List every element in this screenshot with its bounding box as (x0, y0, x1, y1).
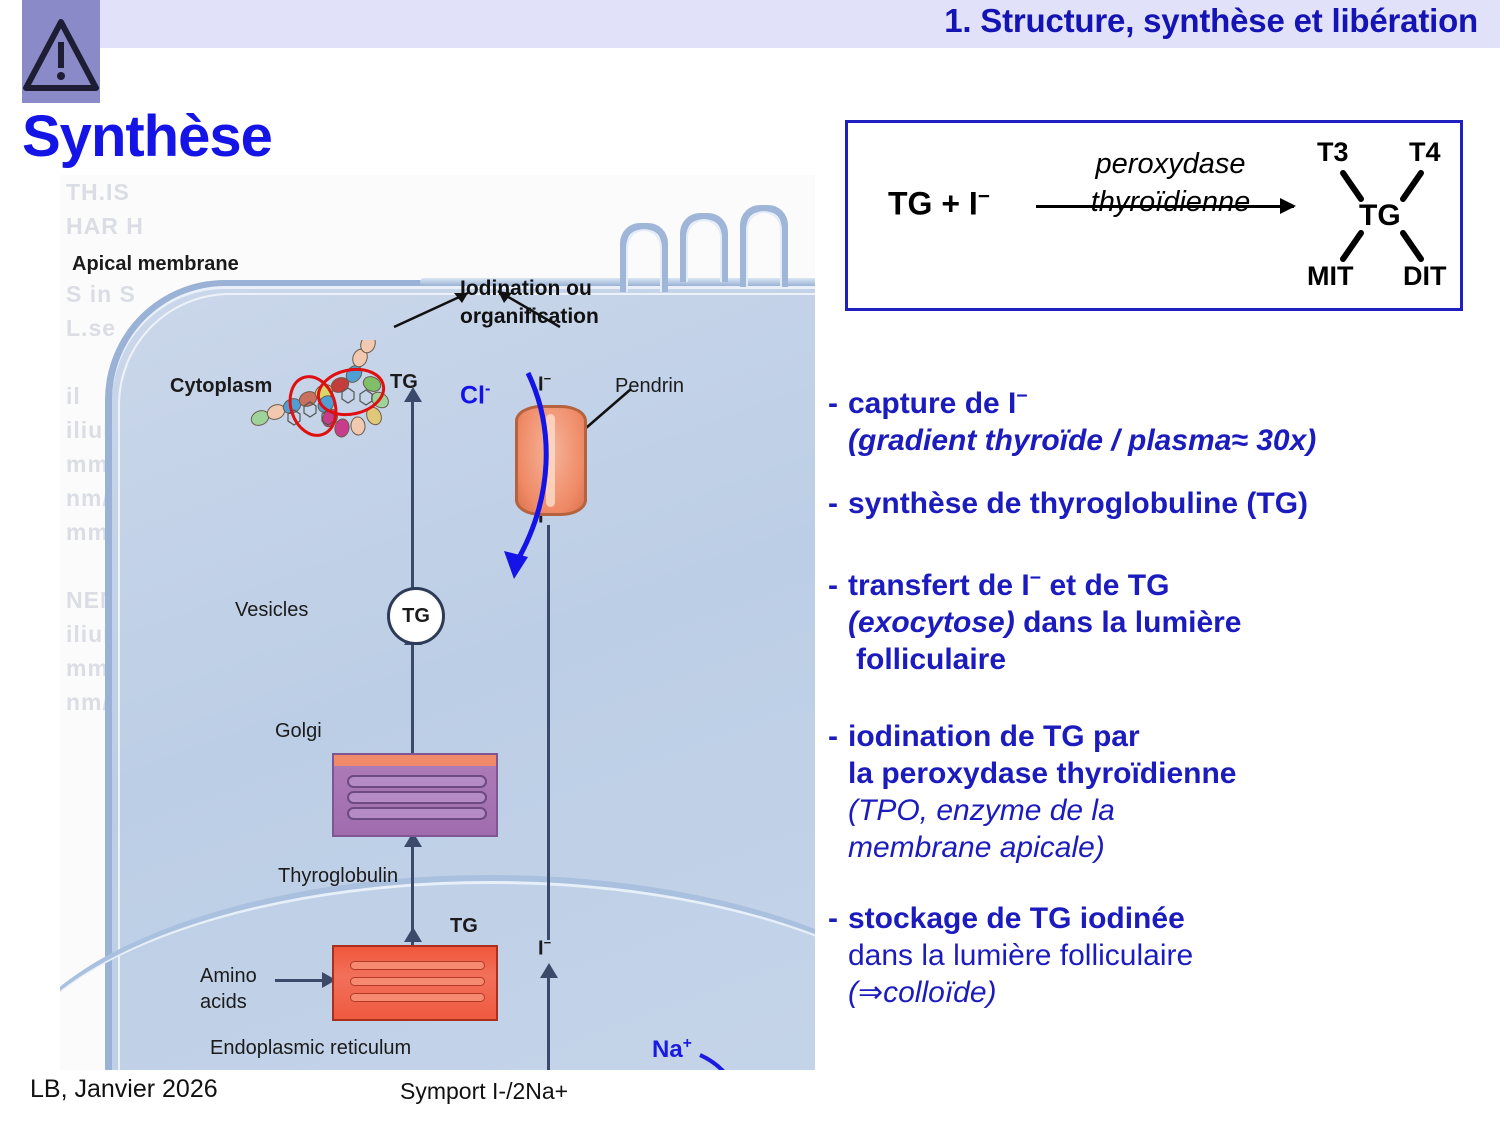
label-apical-membrane: Apical membrane (72, 253, 239, 276)
microvillus-icon (680, 213, 728, 282)
equation-products: T3 T4 TG MIT DIT (1303, 133, 1453, 298)
label-amino-acids-2: acids (200, 991, 247, 1014)
label-iodination-line2: organification (460, 303, 599, 331)
bullet-iodination-line1: iodination de TG par (848, 720, 1140, 753)
enzyme-line2: thyroïdienne (1033, 183, 1308, 221)
bullet-transfert: -transfert de I− et de TG (exocytose) da… (828, 560, 1500, 678)
bullet-synthese-line1: synthèse de thyroglobuline (TG) (848, 487, 1308, 520)
bullet-capture: -capture de I− (gradient thyroïde / plas… (828, 378, 1500, 459)
label-golgi: Golgi (275, 720, 322, 743)
label-thyroglobulin: Thyroglobulin (278, 865, 398, 888)
product-dit: DIT (1403, 261, 1447, 292)
tg-pathway-arrowhead-4 (404, 927, 422, 942)
bullet-dash: - (828, 900, 848, 937)
footer-date: LB, Janvier 2026 (30, 1075, 218, 1104)
bullet-transfert-line3: folliculaire (828, 641, 1500, 678)
endoplasmic-reticulum-icon (332, 945, 498, 1021)
bullet-dash: - (828, 567, 848, 604)
iodide-pathway-line-3 (547, 975, 550, 1070)
bullet-stockage: -stockage de TG iodinée dans la lumière … (828, 900, 1500, 1011)
iodide-pathway-line-2 (547, 525, 550, 940)
bullet-stockage-line2: dans la lumière folliculaire (828, 937, 1500, 974)
label-chloride: Cl- (460, 380, 490, 410)
reaction-equation-box: TG + I− peroxydase thyroïdienne T3 T4 TG… (845, 120, 1463, 311)
label-cytoplasm: Cytoplasm (170, 375, 272, 398)
label-endoplasmic-reticulum: Endoplasmic reticulum (210, 1037, 411, 1060)
product-t4: T4 (1409, 137, 1441, 168)
tg-pathway-line (411, 399, 414, 589)
label-tg-er: TG (450, 915, 478, 938)
bullet-iodination-line4: membrane apicale) (828, 829, 1500, 866)
page-title: 1. Structure, synthèse et libération (944, 2, 1478, 40)
tg-pathway-line-2 (411, 641, 414, 753)
bullet-stockage-line1: stockage de TG iodinée (848, 902, 1185, 935)
product-tg-center: TG (1359, 199, 1401, 233)
thyrocyte-diagram: TH.IS HAR H S in S L.se il ilium mmin nm… (60, 175, 815, 1070)
bullet-iodination-line3: (TPO, enzyme de la (828, 792, 1500, 829)
symport-caption: Symport I-/2Na+ (400, 1078, 568, 1105)
tg-pathway-arrowhead (404, 387, 422, 402)
bullet-iodination: -iodination de TG par la peroxydase thyr… (828, 718, 1500, 866)
label-amino-acids-1: Amino (200, 965, 257, 988)
product-mit: MIT (1307, 261, 1354, 292)
bullet-transfert-line1: transfert de I− et de TG (848, 569, 1169, 602)
slide-title: Synthèse (22, 108, 272, 166)
bullet-list: -capture de I− (gradient thyroïde / plas… (828, 378, 1500, 1037)
tg-vesicle-icon: TG (387, 587, 445, 645)
label-iodide-mid: I− (538, 935, 551, 961)
iodide-arrowhead-2 (540, 963, 558, 978)
sodium-efflux-arrow (690, 1049, 790, 1070)
equation-left-side: TG + I− (888, 185, 990, 223)
bullet-stockage-line3: (⇒colloïde) (828, 974, 1500, 1011)
bullet-dash: - (828, 485, 848, 522)
bullet-synthese: -synthèse de thyroglobuline (TG) (828, 485, 1500, 522)
label-iodination: Iodination ou organification (460, 275, 599, 331)
amino-acid-arrow-line (275, 979, 327, 982)
equation-enzyme-label: peroxydase thyroïdienne (1033, 145, 1308, 221)
golgi-apparatus-icon (332, 753, 498, 837)
label-sodium: Na+ (652, 1035, 692, 1064)
bullet-dash: - (828, 718, 848, 755)
enzyme-line1: peroxydase (1033, 145, 1308, 183)
bullet-iodination-line2: la peroxydase thyroïdienne (828, 755, 1500, 792)
label-iodination-line1: Iodination ou (460, 275, 599, 303)
bullet-dash: - (828, 385, 848, 422)
microvillus-icon (740, 205, 788, 287)
product-t3: T3 (1317, 137, 1349, 168)
bullet-capture-line2: (gradient thyroïde / plasma≈ 30x) (828, 422, 1500, 459)
bullet-transfert-line2: (exocytose) dans la lumière (828, 604, 1500, 641)
warning-triangle-icon (22, 0, 100, 103)
bullet-capture-line1: capture de I− (848, 387, 1028, 420)
equation-reaction-arrow (1036, 205, 1294, 208)
label-vesicles: Vesicles (235, 599, 308, 622)
microvillus-icon (620, 223, 668, 292)
